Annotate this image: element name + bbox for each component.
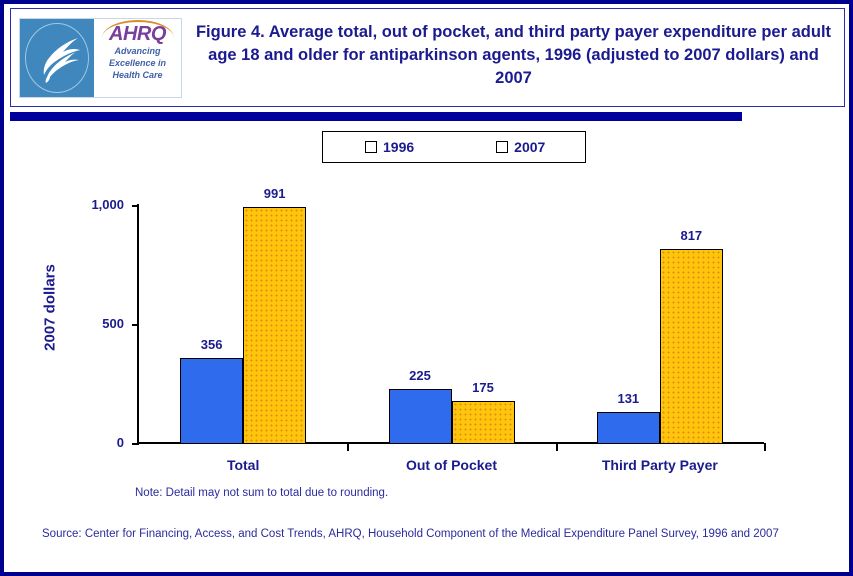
y-tick-label: 1,000: [34, 197, 124, 212]
y-tick-mark: [132, 205, 139, 207]
bar-value-label: 817: [648, 228, 735, 243]
y-tick-label: 0: [34, 435, 124, 450]
category-label-total: Total: [133, 457, 353, 473]
bar-chart: 2007 dollars 05001,000 35699122517513181…: [4, 4, 853, 576]
y-tick-label: 500: [34, 316, 124, 331]
bar-2007-out-of-pocket: [452, 401, 515, 444]
chart-source: Source: Center for Financing, Access, an…: [42, 526, 832, 542]
figure-page: AHRQ Advancing Excellence in Health Care…: [0, 0, 853, 576]
bar-1996-total: [180, 358, 243, 444]
bar-value-label: 175: [440, 380, 527, 395]
y-axis-label: 2007 dollars: [42, 228, 59, 388]
category-label-third-party-payer: Third Party Payer: [550, 457, 770, 473]
category-label-out-of-pocket: Out of Pocket: [342, 457, 562, 473]
chart-note: Note: Detail may not sum to total due to…: [135, 487, 388, 499]
x-tick-mark: [347, 443, 349, 451]
bar-value-label: 356: [168, 337, 255, 352]
bar-1996-out-of-pocket: [389, 389, 452, 444]
y-tick-mark: [132, 443, 139, 445]
bar-1996-third-party-payer: [597, 412, 660, 444]
bar-2007-third-party-payer: [660, 249, 723, 444]
bar-2007-total: [243, 207, 306, 444]
bar-value-label: 131: [585, 391, 672, 406]
x-tick-mark: [556, 443, 558, 451]
y-tick-mark: [132, 324, 139, 326]
bar-value-label: 991: [231, 186, 318, 201]
x-tick-mark: [764, 443, 766, 451]
